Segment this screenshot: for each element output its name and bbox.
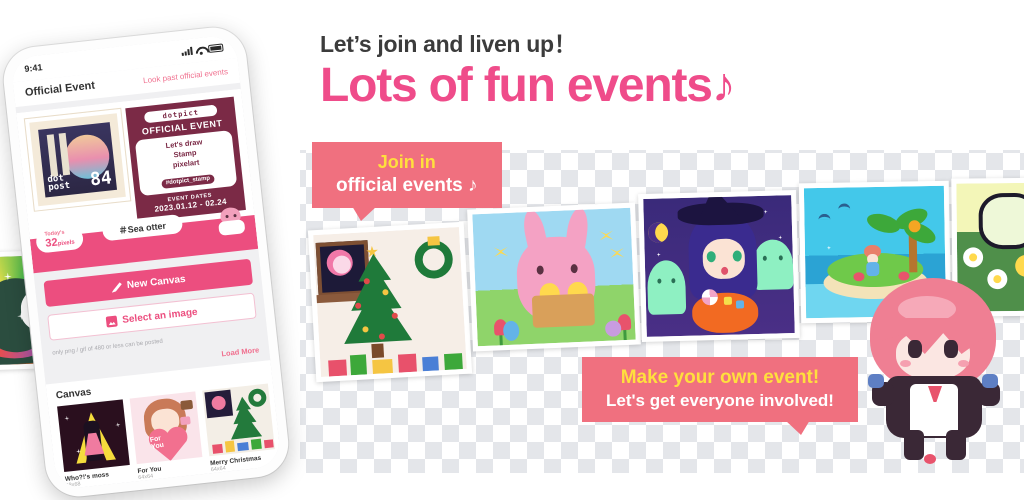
list-item[interactable]: Merry Christmas 64x64 [202, 384, 277, 474]
wifi-icon [195, 45, 206, 54]
bubble-make-your-own-event: Make your own event! Let's get everyone … [588, 357, 852, 422]
dotpict-pixel-mascot [852, 278, 1024, 473]
todays-value: 32pixels [45, 235, 75, 249]
bubble-make-line2: Let's get everyone involved! [606, 390, 834, 411]
event-hashtag-badge: #dotpict_stamp [162, 174, 215, 189]
bubble-make-line1: Make your own event! [606, 366, 834, 390]
image-icon [106, 315, 118, 327]
battery-icon [208, 43, 224, 53]
stamp-artwork-canvas: dot post 84 [38, 122, 117, 197]
christmas-tree-canvas [313, 227, 467, 377]
pink-bunny-canvas [472, 208, 635, 347]
select-image-label: Select an image [122, 307, 198, 326]
stamp-artwork-card[interactable]: dot post 84 [25, 109, 130, 211]
new-canvas-label: New Canvas [126, 274, 186, 291]
todays-pixels-pill: Today's 32pixels [35, 227, 84, 253]
halloween-witch-canvas [643, 195, 795, 337]
canvas-thumbnail [57, 400, 130, 473]
past-events-link[interactable]: Look past official events [143, 67, 229, 85]
bubble-tail-icon [785, 420, 810, 435]
headline-title: Lots of fun events♪ [320, 61, 735, 111]
stamp-number: 84 [89, 167, 113, 190]
signal-icon [181, 47, 193, 56]
status-icons [181, 43, 224, 55]
bubble-join-line2: official events ♪ [336, 174, 478, 198]
halloween-witch-artwork[interactable] [638, 190, 800, 342]
strip-mascot-icon [212, 204, 251, 240]
canvas-thumbnail [202, 384, 275, 457]
christmas-tree-artwork[interactable] [308, 222, 472, 382]
list-item[interactable]: ForYou For You 64x64 [130, 392, 205, 482]
list-item[interactable]: Who?!'s moss 68x68 [57, 400, 132, 490]
pencil-icon [110, 281, 122, 293]
bubble-join-official-events: Join in official events ♪ [318, 142, 496, 208]
app-body: dot post 84 dotpict OFFICIAL EVENT Let's… [16, 89, 282, 490]
phone-mockup: 9:41 Official Event Look past official e… [0, 24, 291, 500]
headline-block: Let’s join and liven up！ Lots of fun eve… [320, 32, 735, 112]
stamp-label: dot post [47, 174, 70, 193]
status-time: 9:41 [24, 62, 43, 74]
bubble-join-line1: Join in [336, 151, 478, 174]
page-title: Official Event [24, 80, 95, 100]
event-card-box: Let's draw Stamp pixelart #dotpict_stamp [135, 130, 238, 197]
canvas-thumbnail: ForYou [130, 392, 203, 465]
headline-subtitle: Let’s join and liven up！ [320, 32, 735, 57]
phone-screen: 9:41 Official Event Look past official e… [10, 34, 282, 490]
load-more-link[interactable]: Load More [221, 346, 260, 359]
pink-bunny-artwork[interactable] [467, 203, 641, 352]
bubble-tail-icon [352, 206, 377, 221]
official-event-card[interactable]: dotpict OFFICIAL EVENT Let's draw Stamp … [125, 97, 246, 222]
